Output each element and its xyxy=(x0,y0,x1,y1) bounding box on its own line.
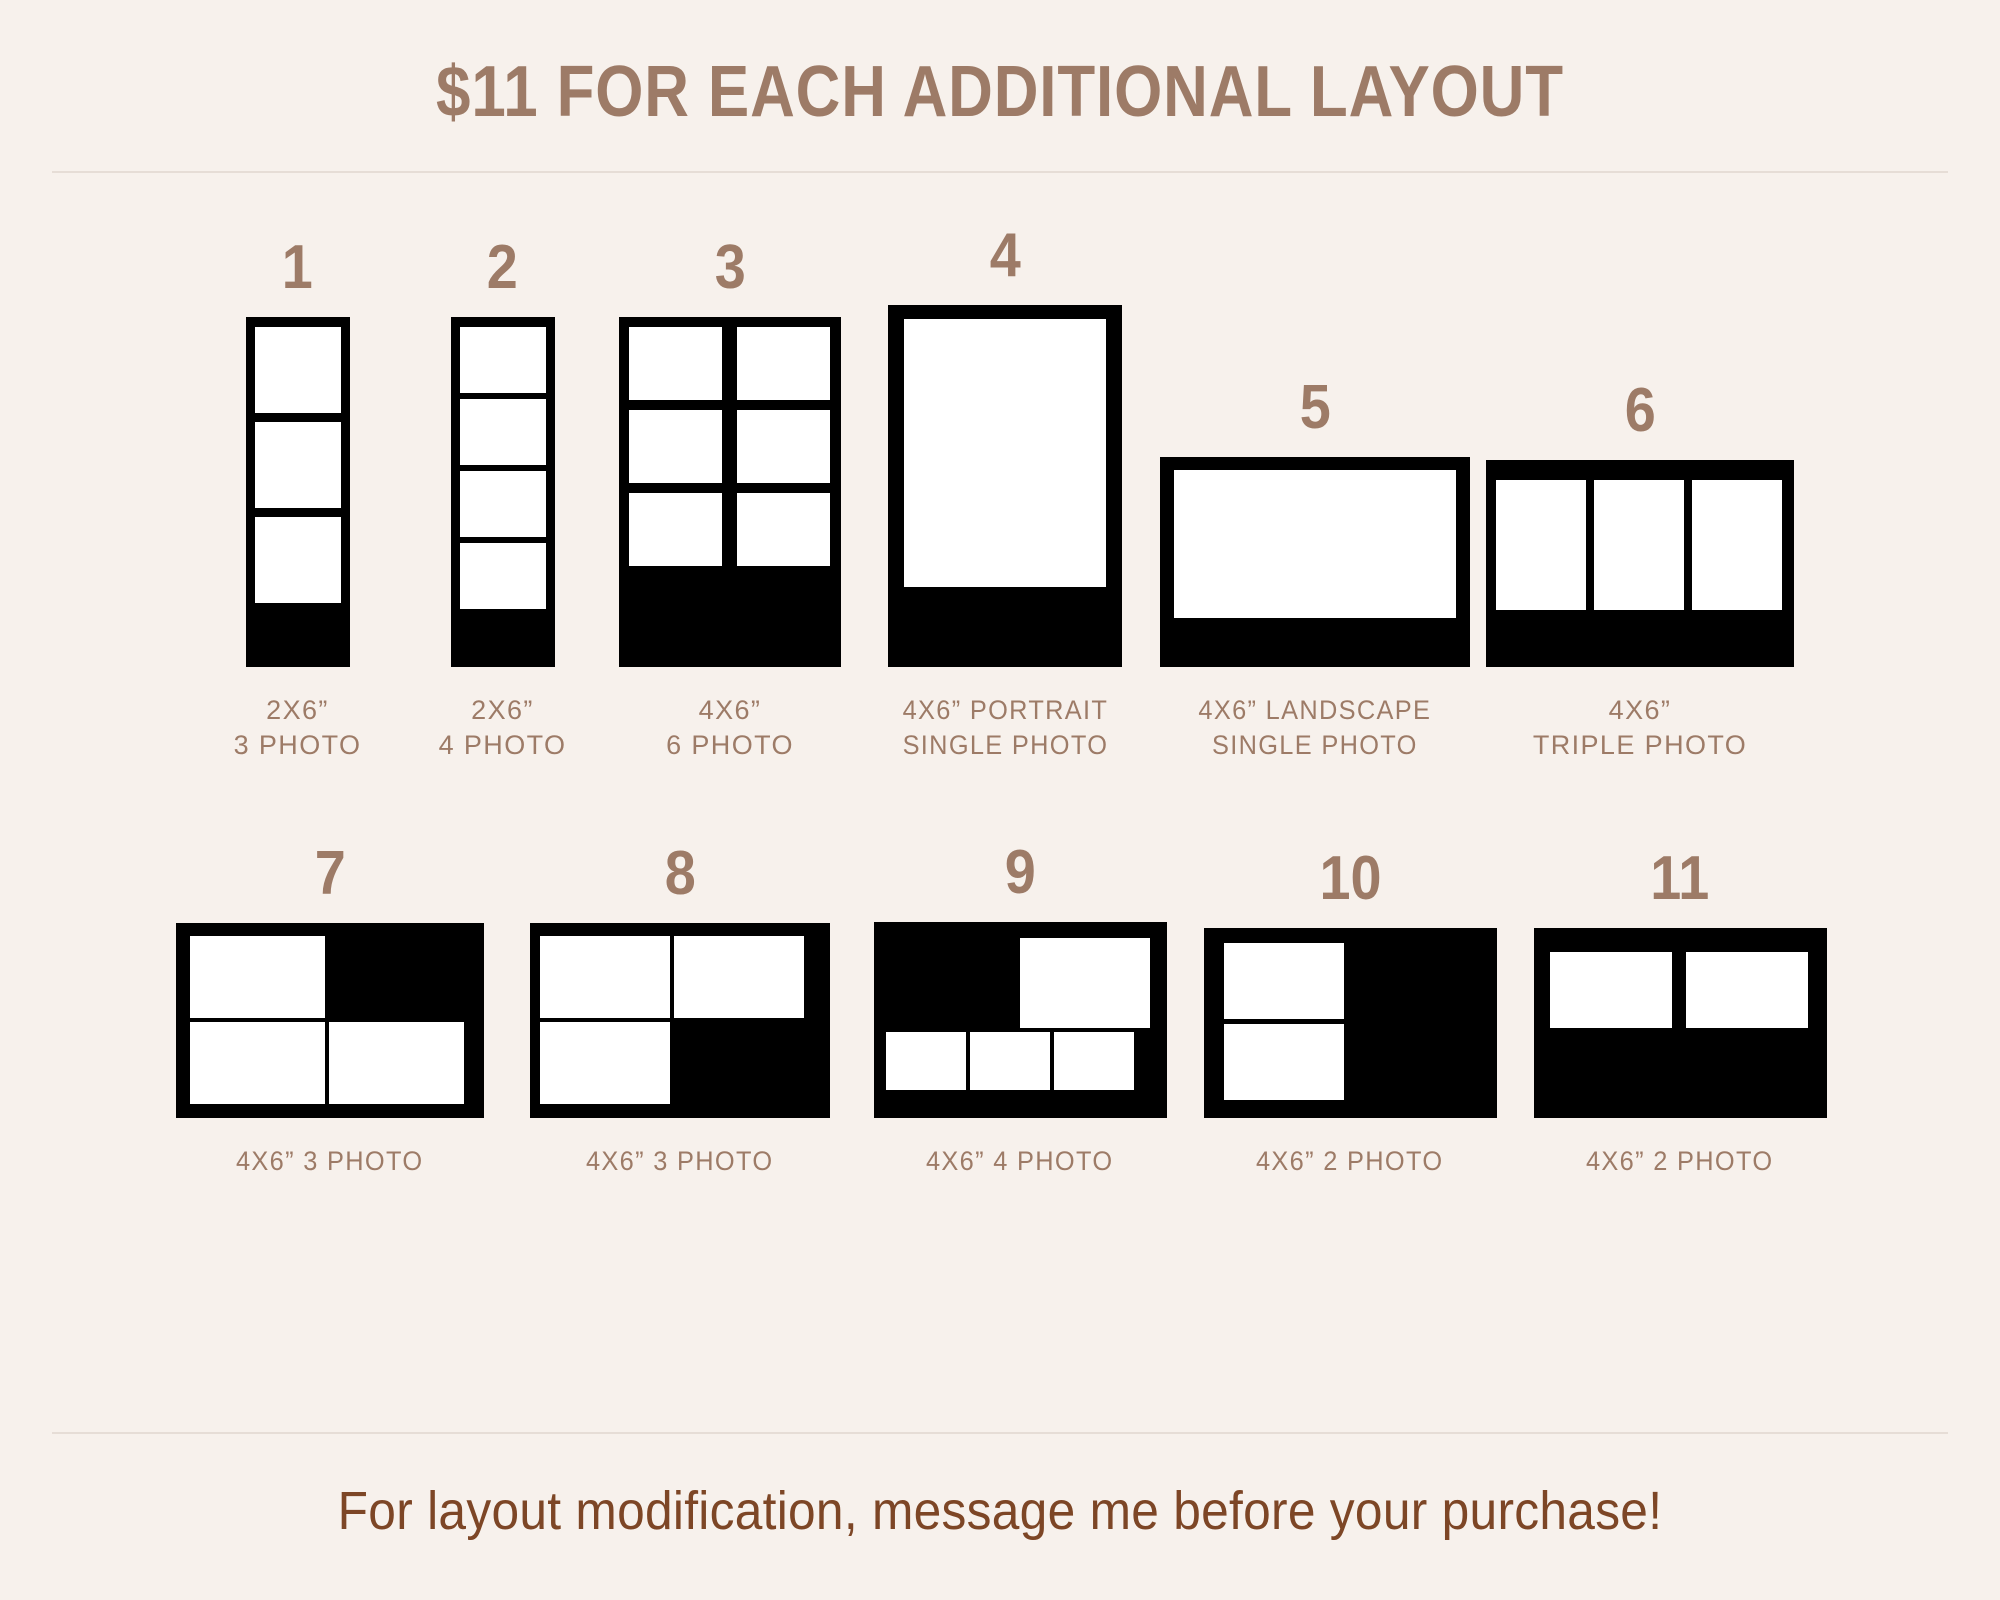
photo-slot xyxy=(1224,1024,1344,1100)
layout-thumbnail-5 xyxy=(1160,457,1470,667)
layout-number: 10 xyxy=(1319,848,1381,910)
layout-option-6[interactable]: 6 4X6” TRIPLE PHOTO xyxy=(1475,380,1805,764)
layout-thumbnail-7 xyxy=(176,923,484,1118)
layout-number: 7 xyxy=(314,843,345,905)
layout-canvas xyxy=(874,922,1167,1118)
layout-caption: 4X6” 2 PHOTO xyxy=(1586,1144,1773,1180)
layout-option-5[interactable]: 5 4X6” LANDSCAPE SINGLE PHOTO xyxy=(1155,377,1475,764)
layout-thumbnail-2 xyxy=(451,317,555,667)
layout-grid: 1 2X6” 3 PHOTO 2 xyxy=(0,173,2000,1432)
photo-slot xyxy=(1496,480,1586,610)
layout-canvas xyxy=(888,305,1122,667)
photo-slot xyxy=(460,543,546,609)
photo-slot xyxy=(629,493,722,566)
photo-slot xyxy=(737,327,830,400)
layout-option-1[interactable]: 1 2X6” 3 PHOTO xyxy=(195,237,400,764)
photo-slot xyxy=(1550,952,1672,1028)
photo-slot xyxy=(540,936,670,1018)
photo-slot xyxy=(329,1022,464,1104)
layout-option-4[interactable]: 4 4X6” PORTRAIT SINGLE PHOTO xyxy=(855,225,1155,764)
layout-number: 6 xyxy=(1624,380,1655,442)
layout-canvas xyxy=(246,317,350,667)
photo-slot xyxy=(737,410,830,483)
layout-caption: 4X6” 2 PHOTO xyxy=(1256,1144,1443,1180)
photo-slot xyxy=(255,517,341,603)
layout-number: 5 xyxy=(1299,377,1330,439)
layout-canvas xyxy=(451,317,555,667)
layout-number: 4 xyxy=(989,225,1020,287)
photo-slot xyxy=(629,327,722,400)
photo-slot xyxy=(1692,480,1782,610)
layout-canvas xyxy=(530,923,830,1118)
layout-option-7[interactable]: 7 4X6” 3 PHOTO xyxy=(155,843,505,1180)
photo-slot xyxy=(1686,952,1808,1028)
photo-slot xyxy=(1224,943,1344,1019)
photo-slot xyxy=(1174,470,1456,618)
layout-caption: 4X6” 6 PHOTO xyxy=(666,693,794,764)
layout-price-sheet: $11 FOR EACH ADDITIONAL LAYOUT 1 2X6” 3 … xyxy=(0,0,2000,1600)
footer: For layout modification, message me befo… xyxy=(0,1434,2000,1600)
photo-slot xyxy=(737,493,830,566)
layout-thumbnail-8 xyxy=(530,923,830,1118)
photo-slot xyxy=(460,327,546,393)
footer-note: For layout modification, message me befo… xyxy=(80,1480,1920,1542)
layout-option-2[interactable]: 2 2X6” 4 PHOTO xyxy=(400,237,605,764)
layout-option-3[interactable]: 3 4X6” 6 PHOTO xyxy=(605,237,855,764)
layout-thumbnail-1 xyxy=(246,317,350,667)
photo-slot xyxy=(255,422,341,508)
layout-row-1: 1 2X6” 3 PHOTO 2 xyxy=(0,225,2000,764)
layout-option-8[interactable]: 8 4X6” 3 PHOTO xyxy=(505,843,855,1180)
layout-canvas xyxy=(1534,928,1827,1118)
layout-caption: 2X6” 3 PHOTO xyxy=(234,693,362,764)
photo-slot xyxy=(1020,938,1150,1028)
layout-thumbnail-10 xyxy=(1204,928,1497,1118)
photo-slot xyxy=(1054,1032,1134,1090)
layout-row-2: 7 4X6” 3 PHOTO 8 xyxy=(0,842,2000,1180)
layout-number: 11 xyxy=(1650,848,1709,910)
photo-slot xyxy=(255,327,341,413)
layout-number: 3 xyxy=(714,237,745,299)
photo-slot xyxy=(460,471,546,537)
photo-slot xyxy=(629,410,722,483)
header: $11 FOR EACH ADDITIONAL LAYOUT xyxy=(0,0,2000,133)
photo-slot xyxy=(674,936,804,1018)
layout-number: 1 xyxy=(282,237,313,299)
layout-thumbnail-9 xyxy=(874,922,1167,1118)
layout-canvas xyxy=(176,923,484,1118)
layout-caption: 4X6” 4 PHOTO xyxy=(926,1144,1113,1180)
layout-number: 8 xyxy=(664,843,695,905)
page-title: $11 FOR EACH ADDITIONAL LAYOUT xyxy=(140,52,1860,133)
layout-caption: 4X6” LANDSCAPE SINGLE PHOTO xyxy=(1199,693,1432,764)
photo-slot xyxy=(190,936,325,1018)
photo-slot xyxy=(190,1022,325,1104)
layout-thumbnail-11 xyxy=(1534,928,1827,1118)
layout-canvas xyxy=(1486,460,1794,667)
layout-caption: 4X6” TRIPLE PHOTO xyxy=(1533,693,1747,764)
layout-caption: 4X6” 3 PHOTO xyxy=(236,1144,423,1180)
photo-slot xyxy=(540,1022,670,1104)
layout-thumbnail-4 xyxy=(888,305,1122,667)
layout-number: 2 xyxy=(487,237,518,299)
photo-slot xyxy=(970,1032,1050,1090)
layout-canvas xyxy=(1160,457,1470,667)
layout-option-9[interactable]: 9 4X6” 4 PHOTO xyxy=(855,842,1185,1180)
layout-canvas xyxy=(1204,928,1497,1118)
photo-slot xyxy=(1594,480,1684,610)
layout-thumbnail-3 xyxy=(619,317,841,667)
photo-slot xyxy=(460,399,546,465)
photo-slot xyxy=(886,1032,966,1090)
layout-option-10[interactable]: 10 4X6” 2 PHOTO xyxy=(1185,848,1515,1180)
layout-canvas xyxy=(619,317,841,667)
photo-slot xyxy=(904,319,1106,587)
layout-caption: 2X6” 4 PHOTO xyxy=(439,693,567,764)
layout-thumbnail-6 xyxy=(1486,460,1794,667)
layout-caption: 4X6” PORTRAIT SINGLE PHOTO xyxy=(902,693,1108,764)
layout-number: 9 xyxy=(1004,842,1035,904)
layout-caption: 4X6” 3 PHOTO xyxy=(586,1144,773,1180)
layout-option-11[interactable]: 11 4X6” 2 PHOTO xyxy=(1515,848,1845,1180)
